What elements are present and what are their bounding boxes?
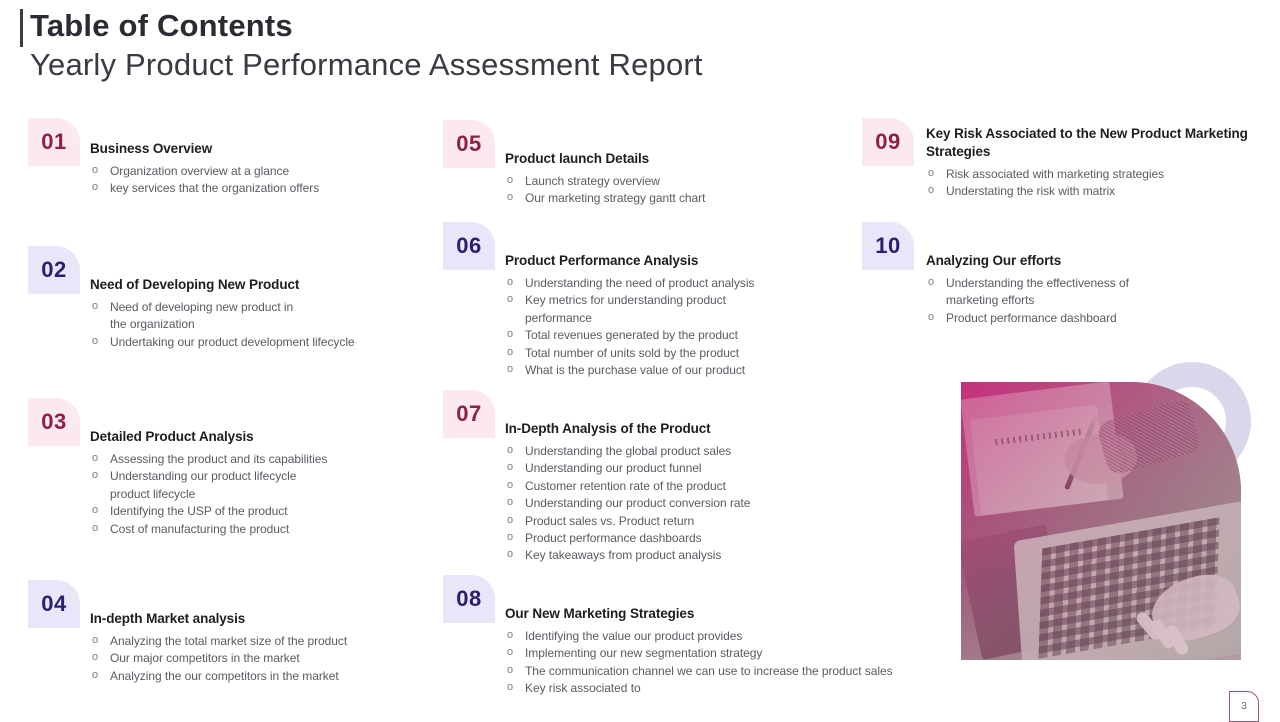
list-item: Key metrics for understanding product: [525, 292, 858, 308]
toc-title-09: Key Risk Associated to the New Product M…: [926, 118, 1271, 161]
list-item: Understanding the need of product analys…: [525, 275, 858, 291]
list-item: marketing efforts: [946, 292, 1271, 308]
page-number-badge: 3: [1229, 691, 1259, 722]
toc-item-body-01: Business Overview Organization overview …: [90, 118, 438, 198]
photo-content: [961, 382, 1241, 660]
list-item: Organization overview at a glance: [110, 163, 438, 179]
toc-number-badge-10: 10: [862, 222, 914, 270]
toc-bullets-10: Understanding the effectiveness of marke…: [926, 275, 1271, 326]
laptop-notebook-photo: [961, 382, 1241, 660]
toc-title-03: Detailed Product Analysis: [90, 398, 438, 446]
toc-title-05: Product launch Details: [505, 120, 858, 168]
toc-title-10: Analyzing Our efforts: [926, 222, 1271, 270]
list-item: The communication channel we can use to …: [525, 663, 943, 679]
list-item: Understanding our product lifecycle: [110, 468, 438, 484]
toc-bullets-05: Launch strategy overview Our marketing s…: [505, 173, 858, 207]
toc-item-body-03: Detailed Product Analysis Assessing the …: [90, 398, 438, 538]
toc-number-badge-05: 05: [443, 120, 495, 168]
toc-number-02: 02: [41, 257, 66, 283]
toc-number-badge-07: 07: [443, 390, 495, 438]
list-item: Implementing our new segmentation strate…: [525, 645, 943, 661]
toc-number-01: 01: [41, 129, 66, 155]
toc-item-body-10: Analyzing Our efforts Understanding the …: [926, 222, 1271, 327]
list-item: Understanding our product funnel: [525, 460, 858, 476]
toc-bullets-04: Analyzing the total market size of the p…: [90, 633, 438, 684]
list-item: Analyzing the our competitors in the mar…: [110, 668, 438, 684]
list-item: Key risk associated to: [525, 680, 943, 696]
list-item: Risk associated with marketing strategie…: [946, 166, 1271, 182]
toc-title-02: Need of Developing New Product: [90, 246, 438, 294]
toc-number-07: 07: [456, 401, 481, 427]
list-item: performance: [525, 310, 858, 326]
list-item: Product performance dashboards: [525, 530, 858, 546]
toc-bullets-03: Assessing the product and its capabiliti…: [90, 451, 438, 537]
list-item: Our major competitors in the market: [110, 650, 438, 666]
toc-title-01: Business Overview: [90, 118, 438, 158]
header-accent-bar: [20, 9, 23, 47]
list-item: Cost of manufacturing the product: [110, 521, 438, 537]
page-title: Table of Contents: [30, 8, 293, 44]
toc-number-badge-04: 04: [28, 580, 80, 628]
page-number: 3: [1241, 701, 1247, 712]
toc-bullets-07: Understanding the global product sales U…: [505, 443, 858, 564]
toc-number-05: 05: [456, 131, 481, 157]
toc-item-body-07: In-Depth Analysis of the Product Underst…: [505, 390, 858, 565]
list-item: Understanding the global product sales: [525, 443, 858, 459]
list-item: Understating the risk with matrix: [946, 183, 1271, 199]
list-item: product lifecycle: [110, 486, 438, 502]
list-item: key services that the organization offer…: [110, 180, 438, 196]
list-item: Identifying the value our product provid…: [525, 628, 943, 644]
list-item: Undertaking our product development life…: [110, 334, 438, 350]
toc-item-body-02: Need of Developing New Product Need of d…: [90, 246, 438, 351]
list-item: Our marketing strategy gantt chart: [525, 190, 858, 206]
toc-title-08: Our New Marketing Strategies: [505, 575, 943, 623]
list-item: Assessing the product and its capabiliti…: [110, 451, 438, 467]
toc-bullets-09: Risk associated with marketing strategie…: [926, 166, 1271, 200]
list-item: Identifying the USP of the product: [110, 503, 438, 519]
list-item: Customer retention rate of the product: [525, 478, 858, 494]
toc-number-09: 09: [875, 129, 900, 155]
toc-item-body-04: In-depth Market analysis Analyzing the t…: [90, 580, 438, 685]
list-item: Analyzing the total market size of the p…: [110, 633, 438, 649]
list-item: Total number of units sold by the produc…: [525, 345, 858, 361]
page-subtitle: Yearly Product Performance Assessment Re…: [30, 47, 703, 83]
toc-title-06: Product Performance Analysis: [505, 222, 858, 270]
list-item: the organization: [110, 316, 438, 332]
list-item: Understanding our product conversion rat…: [525, 495, 858, 511]
toc-bullets-08: Identifying the value our product provid…: [505, 628, 943, 697]
toc-number-10: 10: [875, 233, 900, 259]
list-item: What is the purchase value of our produc…: [525, 362, 858, 378]
toc-number-04: 04: [41, 591, 66, 617]
toc-number-badge-06: 06: [443, 222, 495, 270]
list-item: Total revenues generated by the product: [525, 327, 858, 343]
list-item: Product performance dashboard: [946, 310, 1271, 326]
toc-bullets-06: Understanding the need of product analys…: [505, 275, 858, 379]
toc-item-body-06: Product Performance Analysis Understandi…: [505, 222, 858, 379]
toc-item-body-05: Product launch Details Launch strategy o…: [505, 120, 858, 208]
toc-number-badge-01: 01: [28, 118, 80, 166]
toc-number-badge-08: 08: [443, 575, 495, 623]
toc-number-badge-03: 03: [28, 398, 80, 446]
slide-header: Table of Contents Yearly Product Perform…: [0, 0, 1280, 100]
toc-bullets-02: Need of developing new product in the or…: [90, 299, 438, 350]
toc-title-07: In-Depth Analysis of the Product: [505, 390, 858, 438]
toc-number-badge-02: 02: [28, 246, 80, 294]
toc-number-badge-09: 09: [862, 118, 914, 166]
list-item: Product sales vs. Product return: [525, 513, 858, 529]
list-item: Understanding the effectiveness of: [946, 275, 1271, 291]
toc-number-03: 03: [41, 409, 66, 435]
list-item: Key takeaways from product analysis: [525, 547, 858, 563]
list-item: Need of developing new product in: [110, 299, 438, 315]
toc-number-06: 06: [456, 233, 481, 259]
toc-title-04: In-depth Market analysis: [90, 580, 438, 628]
toc-item-body-09: Key Risk Associated to the New Product M…: [926, 118, 1271, 201]
list-item: Launch strategy overview: [525, 173, 858, 189]
toc-number-08: 08: [456, 586, 481, 612]
toc-bullets-01: Organization overview at a glance key se…: [90, 163, 438, 197]
toc-item-body-08: Our New Marketing Strategies Identifying…: [505, 575, 943, 698]
